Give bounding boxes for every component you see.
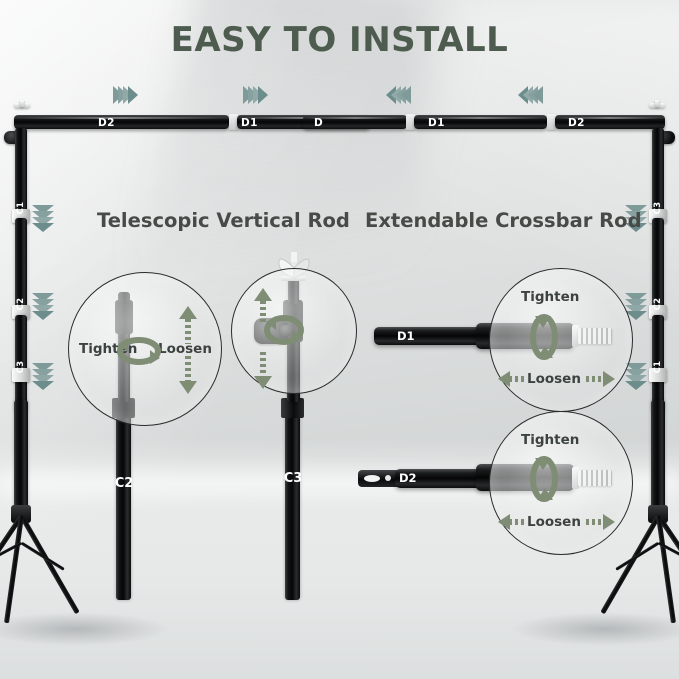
chevron-down-icon (32, 223, 54, 232)
arrow-shaft-zigzag (509, 376, 527, 382)
arrow-shaft-zigzag (260, 301, 266, 323)
left-pole-label-c3: C3 (16, 357, 26, 377)
chevron-down-icon (32, 381, 54, 390)
right-stand-arrow-group-3 (625, 366, 647, 390)
c2-rotation-arrow-icon (116, 334, 162, 368)
d2-right-arrow-icon (586, 513, 616, 531)
arrow-shaft-zigzag (185, 356, 191, 381)
bar-highlight (14, 117, 229, 119)
left-pole-label-c2: C2 (16, 294, 26, 314)
arrow-shaft-zigzag (586, 376, 604, 382)
crossbar-arrow-group-3 (386, 86, 406, 104)
left-pole-base (14, 400, 28, 512)
crossbar-label-d1-right: D1 (428, 117, 445, 129)
arrow-head-up (179, 306, 197, 319)
chevron-left-icon (401, 86, 411, 104)
infographic-canvas: EASY TO INSTALL D2 D1 D D1 (0, 0, 679, 679)
chevron-right-icon (258, 86, 268, 104)
right-pole-label-c1: C1 (653, 357, 663, 377)
arrow-shaft-zigzag (260, 352, 266, 376)
section-heading-vertical-rod: Telescopic Vertical Rod (97, 209, 350, 232)
d2-slot (364, 475, 380, 482)
arrow-shaft-zigzag (509, 519, 527, 525)
section-heading-crossbar-rod: Extendable Crossbar Rod (365, 209, 642, 232)
d2-rod-label: D2 (399, 471, 417, 485)
c2-rod-label: C2 (108, 476, 140, 491)
left-stand-shadow (0, 612, 170, 646)
d1-right-arrow-icon (586, 370, 616, 388)
d2-left-arrow-icon (498, 513, 528, 531)
left-stand-arrow-group-3 (32, 366, 54, 390)
crossbar-segment-d2-left (14, 115, 229, 129)
c3-rod-shaft (285, 400, 300, 600)
chevron-down-icon (625, 381, 647, 390)
d1-tighten-label: Tighten (521, 289, 579, 305)
right-pole-label-c2: C2 (653, 294, 663, 314)
d1-loosen-label: Loosen (527, 371, 581, 387)
c3-rod-label: C3 (277, 471, 309, 486)
d1-rod-label: D1 (397, 329, 415, 343)
arrow-head-down (254, 376, 272, 389)
crossbar-label-d-center: D (314, 117, 323, 129)
d2-rotation-arrow-icon (527, 452, 561, 506)
arrow-shaft-zigzag (185, 319, 191, 344)
crossbar-label-d2-right: D2 (568, 117, 585, 129)
d1-rotation-arrow-icon (527, 310, 561, 364)
d2-hole (385, 475, 391, 481)
left-wingnut-stem (20, 100, 24, 107)
arrow-head-down (179, 381, 197, 394)
page-title: EASY TO INSTALL (0, 20, 679, 60)
c3-up-arrow-icon (253, 288, 273, 324)
arrow-head-right (603, 371, 615, 387)
chevron-right-icon (128, 86, 138, 104)
crossbar-arrow-group-4 (518, 86, 538, 104)
right-stand-shadow (510, 612, 679, 646)
d2-tighten-label: Tighten (521, 432, 579, 448)
left-stand-arrow-group-1 (32, 208, 54, 232)
c2-down-arrow-icon (178, 356, 198, 394)
crossbar-label-d2-left: D2 (98, 117, 115, 129)
right-pole-base (651, 400, 665, 512)
chevron-down-icon (32, 311, 54, 320)
c3-down-arrow-icon (253, 352, 273, 390)
d2-loosen-label: Loosen (527, 514, 581, 530)
left-pole-label-c1: C1 (16, 198, 26, 218)
c2-up-arrow-icon (178, 306, 198, 344)
arrow-head-up (254, 288, 272, 301)
arrow-shaft-zigzag (586, 519, 604, 525)
chevron-left-icon (533, 86, 543, 104)
left-stand-arrow-group-2 (32, 296, 54, 320)
right-pole-label-c3: C3 (653, 198, 663, 218)
crossbar-label-d1-left: D1 (241, 117, 258, 129)
right-wingnut-stem (655, 100, 659, 107)
arrow-head-right (603, 514, 615, 530)
c2-rod-shaft (116, 400, 131, 600)
crossbar-arrow-group-2 (248, 86, 268, 104)
d1-left-arrow-icon (498, 370, 528, 388)
crossbar-arrow-group-1 (118, 86, 138, 104)
